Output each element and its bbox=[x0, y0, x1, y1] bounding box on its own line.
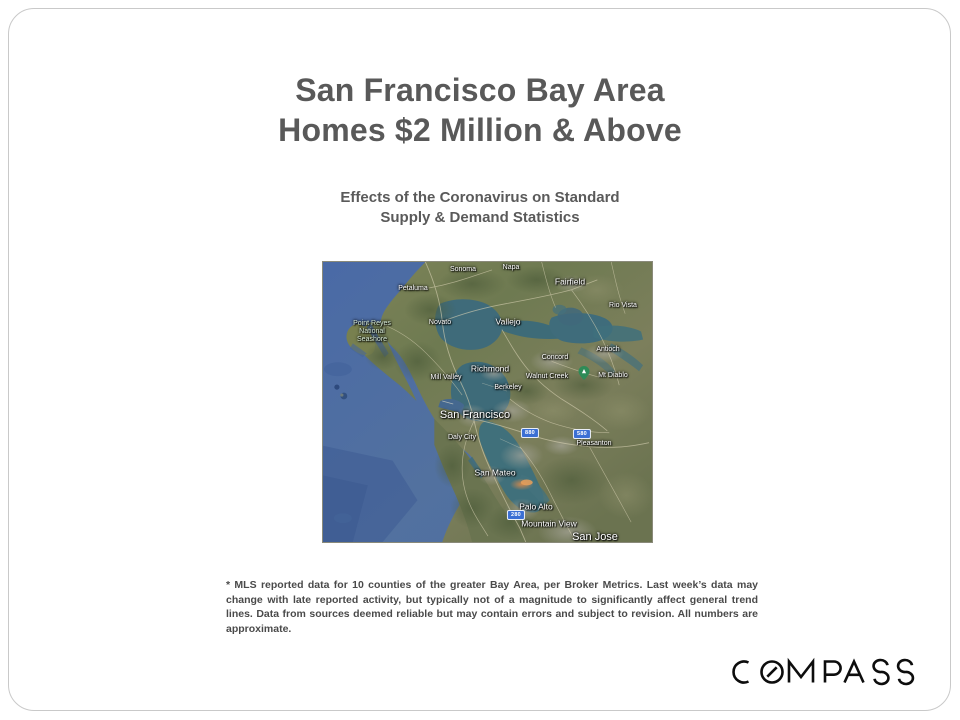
footnote-text: * MLS reported data for 10 counties of t… bbox=[226, 578, 758, 636]
map-highway-shield-880: 880 bbox=[521, 428, 539, 438]
page-subtitle: Effects of the Coronavirus on Standard S… bbox=[0, 188, 960, 228]
map-highway-shield-280: 280 bbox=[507, 510, 525, 520]
subtitle-line-1: Effects of the Coronavirus on Standard bbox=[0, 188, 960, 208]
map-highway-shield-580: 580 bbox=[573, 429, 591, 439]
compass-logo: COMPASS bbox=[726, 655, 916, 689]
bay-area-satellite-map: SonomaNapaFairfieldPetalumaRio VistaNova… bbox=[322, 261, 653, 543]
title-line-1: San Francisco Bay Area bbox=[0, 70, 960, 110]
title-line-2: Homes $2 Million & Above bbox=[0, 110, 960, 150]
slide: San Francisco Bay Area Homes $2 Million … bbox=[0, 0, 960, 720]
subtitle-line-2: Supply & Demand Statistics bbox=[0, 208, 960, 228]
compass-wordmark-icon bbox=[726, 655, 916, 689]
map-park-pin-icon bbox=[579, 366, 590, 380]
page-title: San Francisco Bay Area Homes $2 Million … bbox=[0, 70, 960, 150]
map-graphic bbox=[323, 262, 652, 542]
